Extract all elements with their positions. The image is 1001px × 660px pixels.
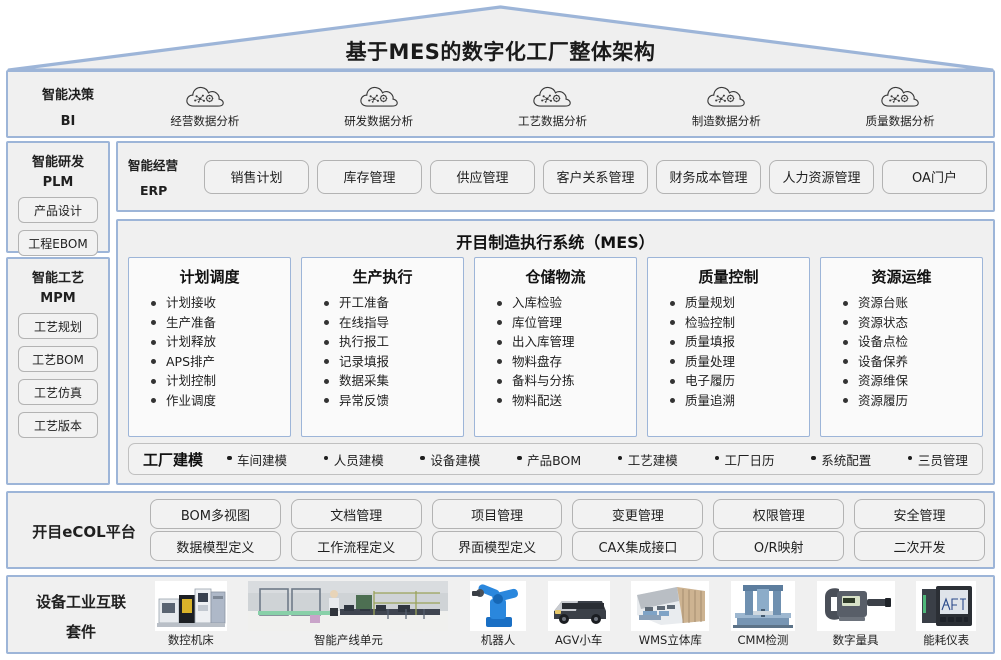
erp-item-supply[interactable]: 供应管理 [430,160,535,194]
ecol-item-secondary-dev[interactable]: 二次开发 [854,531,985,561]
device-item[interactable]: 数控机床 [155,581,227,648]
device-panel-label: 设备工业互联 套件 [22,591,140,642]
erp-item-oa-portal[interactable]: OA门户 [882,160,987,194]
list-item[interactable]: 生产准备 [151,313,286,333]
fm-item-calendar[interactable]: 工厂日历 [715,450,775,469]
bi-item[interactable]: 质量数据分析 [825,83,975,129]
device-item[interactable]: CMM检测 [731,581,795,648]
list-item[interactable]: 设备点检 [843,332,978,352]
list-item[interactable]: 资源台账 [843,293,978,313]
device-item[interactable]: 智能产线单元 [248,581,448,648]
list-item[interactable]: 出入库管理 [497,332,632,352]
list-item[interactable]: 作业调度 [151,391,286,411]
erp-panel: 智能经营 ERP 销售计划 库存管理 供应管理 客户关系管理 财务成本管理 人力… [116,141,995,212]
digital-gauge-photo [817,581,895,631]
ecol-item-workflow-def[interactable]: 工作流程定义 [291,531,422,561]
bi-item[interactable]: 经营数据分析 [130,83,280,129]
bi-item[interactable]: 工艺数据分析 [477,83,627,129]
agv-cart-photo [548,581,610,631]
device-item[interactable]: WMS立体库 [631,581,709,648]
device-item-label: 能耗仪表 [923,632,969,648]
factory-modeling-items: 车间建模 人员建模 设备建模 产品BOM 工艺建模 工厂日历 系统配置 三员管理 [227,450,968,469]
fm-item-workshop[interactable]: 车间建模 [227,450,287,469]
list-item[interactable]: 备料与分拣 [497,371,632,391]
ecol-row-2: 数据模型定义 工作流程定义 界面模型定义 CAX集成接口 O/R映射 二次开发 [150,531,985,561]
mes-column-resource: 资源运维 资源台账 资源状态 设备点检 设备保养 资源维保 资源履历 [820,257,983,437]
bi-label-line1: 智能决策 [22,84,114,103]
mes-column-quality: 质量控制 质量规划 检验控制 质量填报 质量处理 电子履历 质量追溯 [647,257,810,437]
mpm-item-process-simulation[interactable]: 工艺仿真 [18,379,98,405]
erp-item-inventory[interactable]: 库存管理 [317,160,422,194]
mes-column-list: 资源台账 资源状态 设备点检 设备保养 资源维保 资源履历 [825,293,978,410]
mpm-subtitle: MPM [8,291,108,306]
factory-modeling-title: 工厂建模 [143,449,203,470]
cloud-analytics-icon [705,83,747,111]
device-item-label: 智能产线单元 [314,632,383,648]
list-item[interactable]: 计划接收 [151,293,286,313]
ecol-item-bom-multiview[interactable]: BOM多视图 [150,499,281,529]
plm-subtitle: PLM [8,175,108,190]
mpm-panel: 智能工艺 MPM 工艺规划 工艺BOM 工艺仿真 工艺版本 [6,257,110,485]
fm-item-process[interactable]: 工艺建模 [618,450,678,469]
list-item[interactable]: 物料盘存 [497,352,632,372]
bi-item-label: 研发数据分析 [344,113,413,129]
plm-item-engineering-ebom[interactable]: 工程EBOM [18,230,98,256]
list-item[interactable]: 检验控制 [670,313,805,333]
list-item[interactable]: 质量追溯 [670,391,805,411]
device-iiot-panel: 设备工业互联 套件 数控机床 [6,575,995,654]
device-item-label: 数字量具 [833,632,879,648]
list-item[interactable]: 执行报工 [324,332,459,352]
ecol-items-grid: BOM多视图 文档管理 项目管理 变更管理 权限管理 安全管理 数据模型定义 工… [150,499,985,561]
mes-column-title: 资源运维 [825,266,978,287]
page-title: 基于MES的数字化工厂整体架构 [6,36,995,66]
erp-item-finance-cost[interactable]: 财务成本管理 [656,160,761,194]
list-item[interactable]: 库位管理 [497,313,632,333]
plm-panel: 智能研发 PLM 产品设计 工程EBOM [6,141,110,253]
list-item[interactable]: 质量处理 [670,352,805,372]
mpm-item-process-planning[interactable]: 工艺规划 [18,313,98,339]
cloud-analytics-icon [358,83,400,111]
cnc-machine-photo [155,581,227,631]
mes-column-title: 生产执行 [306,266,459,287]
erp-item-hr[interactable]: 人力资源管理 [769,160,874,194]
erp-label-line1: 智能经营 [128,155,202,174]
cloud-analytics-icon [531,83,573,111]
device-item-label: 机器人 [481,632,516,648]
list-item[interactable]: 计划控制 [151,371,286,391]
fm-item-three-member[interactable]: 三员管理 [908,450,968,469]
ecol-item-security-mgmt[interactable]: 安全管理 [854,499,985,529]
device-item-label: WMS立体库 [639,632,702,648]
erp-items-list: 销售计划 库存管理 供应管理 客户关系管理 财务成本管理 人力资源管理 OA门户 [204,143,987,210]
fm-item-personnel[interactable]: 人员建模 [324,450,384,469]
ecol-row-1: BOM多视图 文档管理 项目管理 变更管理 权限管理 安全管理 [150,499,985,529]
ecol-item-cax-interface[interactable]: CAX集成接口 [572,531,703,561]
mes-column-title: 计划调度 [133,266,286,287]
bi-item-label: 经营数据分析 [170,113,239,129]
list-item[interactable]: 电子履历 [670,371,805,391]
mes-title: 开目制造执行系统（MES） [118,229,993,253]
plm-title: 智能研发 [8,151,108,170]
mes-column-list: 入库检验 库位管理 出入库管理 物料盘存 备料与分拣 物料配送 [479,293,632,410]
fm-item-product-bom[interactable]: 产品BOM [517,450,581,469]
mes-panel: 开目制造执行系统（MES） 计划调度 计划接收 生产准备 计划释放 APS排产 … [116,219,995,485]
list-item[interactable]: 物料配送 [497,391,632,411]
bi-item-label: 质量数据分析 [866,113,935,129]
device-item-label: 数控机床 [168,632,214,648]
factory-modeling-bar: 工厂建模 车间建模 人员建模 设备建模 产品BOM 工艺建模 工厂日历 系统配置… [128,443,983,475]
mes-column-list: 质量规划 检验控制 质量填报 质量处理 电子履历 质量追溯 [652,293,805,410]
device-label-line1: 设备工业互联 [22,591,140,612]
mes-column-list: 开工准备 在线指导 执行报工 记录填报 数据采集 异常反馈 [306,293,459,410]
bi-items-list: 经营数据分析 [118,78,987,134]
list-item[interactable]: 计划释放 [151,332,286,352]
cmm-inspection-photo [731,581,795,631]
list-item[interactable]: 入库检验 [497,293,632,313]
mes-columns: 计划调度 计划接收 生产准备 计划释放 APS排产 计划控制 作业调度 生产执行… [128,257,983,437]
device-item-label: AGV小车 [555,632,602,648]
list-item[interactable]: 数据采集 [324,371,459,391]
list-item[interactable]: 记录填报 [324,352,459,372]
bi-layer-panel: 智能决策 BI [6,70,995,138]
mes-column-production: 生产执行 开工准备 在线指导 执行报工 记录填报 数据采集 异常反馈 [301,257,464,437]
cloud-analytics-icon [184,83,226,111]
ecol-item-permission-mgmt[interactable]: 权限管理 [713,499,844,529]
industrial-robot-photo [470,581,526,631]
ecol-item-data-model-def[interactable]: 数据模型定义 [150,531,281,561]
list-item[interactable]: 资源状态 [843,313,978,333]
erp-item-crm[interactable]: 客户关系管理 [543,160,648,194]
cloud-analytics-icon [879,83,921,111]
bi-label-line2: BI [22,114,114,129]
list-item[interactable]: 质量规划 [670,293,805,313]
device-item[interactable]: 能耗仪表 [916,581,976,648]
fm-item-system-config[interactable]: 系统配置 [811,450,871,469]
device-item[interactable]: 数字量具 [817,581,895,648]
list-item[interactable]: 资源履历 [843,391,978,411]
list-item[interactable]: 资源维保 [843,371,978,391]
mes-column-list: 计划接收 生产准备 计划释放 APS排产 计划控制 作业调度 [133,293,286,410]
erp-label: 智能经营 ERP [128,155,202,198]
mes-column-warehouse: 仓储物流 入库检验 库位管理 出入库管理 物料盘存 备料与分拣 物料配送 [474,257,637,437]
device-items-list: 数控机床 [144,579,987,650]
ecol-platform-panel: 开目eCOL平台 BOM多视图 文档管理 项目管理 变更管理 权限管理 安全管理… [6,491,995,569]
roof-shape: 基于MES的数字化工厂整体架构 [6,4,995,72]
ecol-item-change-mgmt[interactable]: 变更管理 [572,499,703,529]
bi-item-label: 工艺数据分析 [518,113,587,129]
bi-item[interactable]: 制造数据分析 [651,83,801,129]
ecol-item-or-mapping[interactable]: O/R映射 [713,531,844,561]
erp-label-line2: ERP [128,183,202,198]
ecol-item-project-mgmt[interactable]: 项目管理 [432,499,563,529]
list-item[interactable]: 开工准备 [324,293,459,313]
architecture-diagram: 基于MES的数字化工厂整体架构 智能决策 BI [0,0,1001,660]
list-item[interactable]: 异常反馈 [324,391,459,411]
list-item[interactable]: 质量填报 [670,332,805,352]
bi-item[interactable]: 研发数据分析 [304,83,454,129]
mpm-item-process-version[interactable]: 工艺版本 [18,412,98,438]
mes-column-planning: 计划调度 计划接收 生产准备 计划释放 APS排产 计划控制 作业调度 [128,257,291,437]
fm-item-equipment[interactable]: 设备建模 [420,450,480,469]
plm-item-product-design[interactable]: 产品设计 [18,197,98,223]
device-item[interactable]: AGV小车 [548,581,610,648]
ecol-platform-label: 开目eCOL平台 [24,521,144,542]
list-item[interactable]: 设备保养 [843,352,978,372]
bi-layer-label: 智能决策 BI [22,84,114,129]
mpm-title: 智能工艺 [8,267,108,286]
bi-item-label: 制造数据分析 [692,113,761,129]
list-item[interactable]: APS排产 [151,352,286,372]
ecol-item-ui-model-def[interactable]: 界面模型定义 [432,531,563,561]
device-item[interactable]: 机器人 [470,581,526,648]
mes-column-title: 质量控制 [652,266,805,287]
smart-production-line-photo [248,581,448,631]
wms-warehouse-photo [631,581,709,631]
mpm-item-process-bom[interactable]: 工艺BOM [18,346,98,372]
mes-column-title: 仓储物流 [479,266,632,287]
device-label-line2: 套件 [22,621,140,642]
ecol-item-document-mgmt[interactable]: 文档管理 [291,499,422,529]
device-item-label: CMM检测 [738,632,789,648]
list-item[interactable]: 在线指导 [324,313,459,333]
energy-meter-photo [916,581,976,631]
erp-item-sales-plan[interactable]: 销售计划 [204,160,309,194]
